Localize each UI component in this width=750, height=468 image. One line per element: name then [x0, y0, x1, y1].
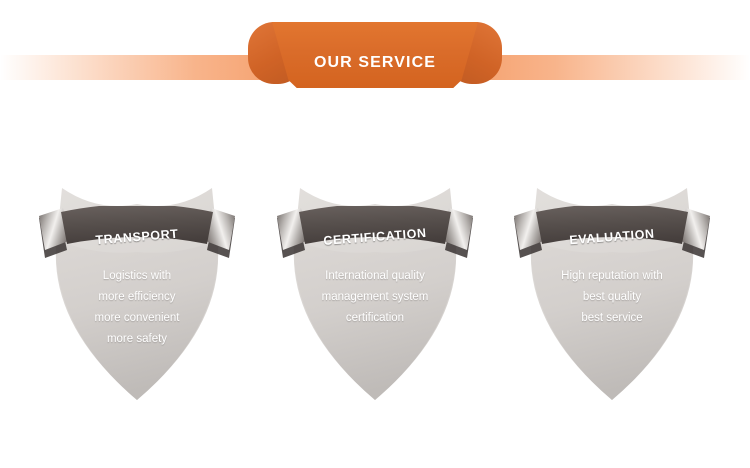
shield-card[interactable]: International quality management system … [275, 178, 475, 410]
shield-list: Logistics with more efficiency more conv… [0, 178, 750, 418]
page-title: OUR SERVICE [314, 54, 436, 72]
page-header: OUR SERVICE [0, 0, 750, 110]
shield-ribbon: EVALUATION [512, 206, 712, 266]
shield-card[interactable]: High reputation with best quality best s… [512, 178, 712, 410]
shield-card[interactable]: Logistics with more efficiency more conv… [37, 178, 237, 410]
shield-ribbon: TRANSPORT [37, 206, 237, 266]
header-ribbon-plate: OUR SERVICE [272, 22, 478, 88]
shield-ribbon: CERTIFICATION [275, 206, 475, 266]
